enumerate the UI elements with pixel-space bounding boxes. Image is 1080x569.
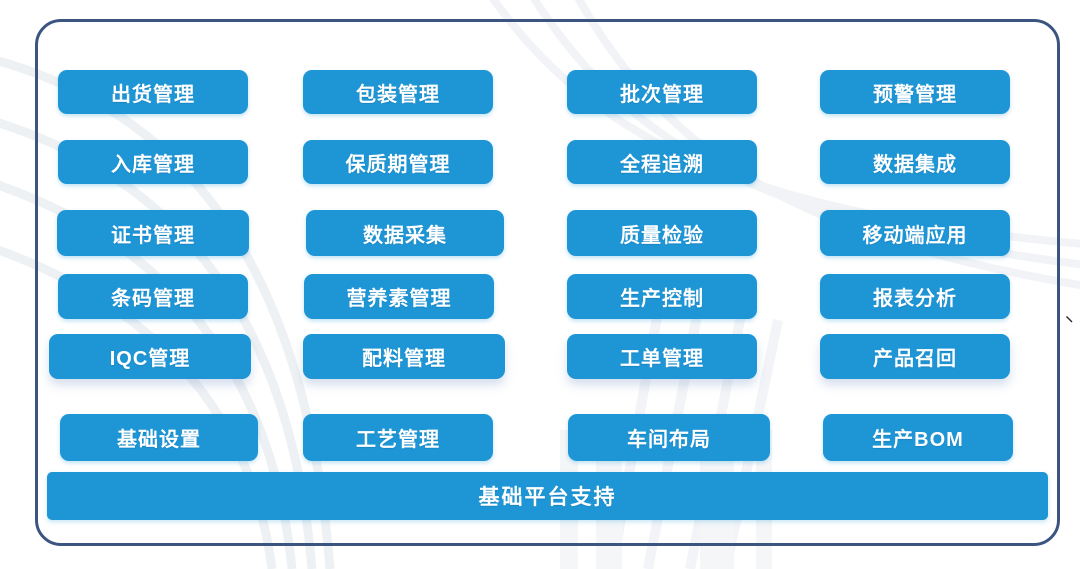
module-tile[interactable]: 移动端应用: [820, 210, 1010, 256]
module-tile-label: 批次管理: [620, 78, 704, 107]
module-tile-label: 入库管理: [111, 148, 195, 177]
module-tile-label: 证书管理: [111, 219, 195, 248]
module-tile[interactable]: 车间布局: [568, 414, 770, 461]
module-tile-label: 产品召回: [873, 342, 957, 371]
module-tile[interactable]: 出货管理: [58, 70, 248, 114]
module-tile[interactable]: 生产BOM: [823, 414, 1013, 461]
module-tile[interactable]: 配料管理: [303, 334, 505, 379]
module-tile[interactable]: 工艺管理: [303, 414, 493, 461]
module-tile-label: 工单管理: [620, 342, 704, 371]
module-tile[interactable]: 证书管理: [57, 210, 249, 256]
module-tile-label: 生产BOM: [872, 423, 964, 452]
module-tile[interactable]: 全程追溯: [567, 140, 757, 184]
module-tile-label: 配料管理: [362, 342, 446, 371]
module-tile[interactable]: 批次管理: [567, 70, 757, 114]
module-tile[interactable]: 工单管理: [567, 334, 757, 379]
module-tile-label: 数据采集: [363, 219, 447, 248]
module-tile[interactable]: 生产控制: [567, 274, 757, 319]
module-tile[interactable]: 数据采集: [306, 210, 504, 256]
base-platform-label: 基础平台支持: [479, 481, 617, 511]
module-tile[interactable]: 保质期管理: [303, 140, 493, 184]
module-tile-label: 车间布局: [627, 423, 711, 452]
module-tile-label: 报表分析: [873, 282, 957, 311]
module-tile-label: 出货管理: [111, 78, 195, 107]
base-platform-bar[interactable]: 基础平台支持: [47, 472, 1048, 520]
module-tile-label: 移动端应用: [863, 219, 968, 248]
module-tile-label: 全程追溯: [620, 148, 704, 177]
module-tile[interactable]: 报表分析: [820, 274, 1010, 319]
module-tile[interactable]: 营养素管理: [304, 274, 494, 319]
module-tile-label: IQC管理: [110, 342, 191, 371]
module-tile-label: 营养素管理: [347, 282, 452, 311]
module-tile-label: 包装管理: [356, 78, 440, 107]
module-tile-label: 条码管理: [111, 282, 195, 311]
module-tile[interactable]: IQC管理: [49, 334, 251, 379]
module-tile[interactable]: 条码管理: [58, 274, 248, 319]
module-tile[interactable]: 预警管理: [820, 70, 1010, 114]
module-tile-label: 基础设置: [117, 423, 201, 452]
module-tile-label: 数据集成: [873, 148, 957, 177]
module-tile[interactable]: 入库管理: [58, 140, 248, 184]
module-tile-label: 保质期管理: [346, 148, 451, 177]
module-tile-label: 质量检验: [620, 219, 704, 248]
module-tile[interactable]: 包装管理: [303, 70, 493, 114]
module-tile-label: 预警管理: [873, 78, 957, 107]
module-tile[interactable]: 基础设置: [60, 414, 258, 461]
module-tile[interactable]: 质量检验: [567, 210, 757, 256]
module-tile-label: 工艺管理: [356, 423, 440, 452]
module-tile[interactable]: 产品召回: [820, 334, 1010, 379]
module-tile[interactable]: 数据集成: [820, 140, 1010, 184]
module-tile-label: 生产控制: [620, 282, 704, 311]
